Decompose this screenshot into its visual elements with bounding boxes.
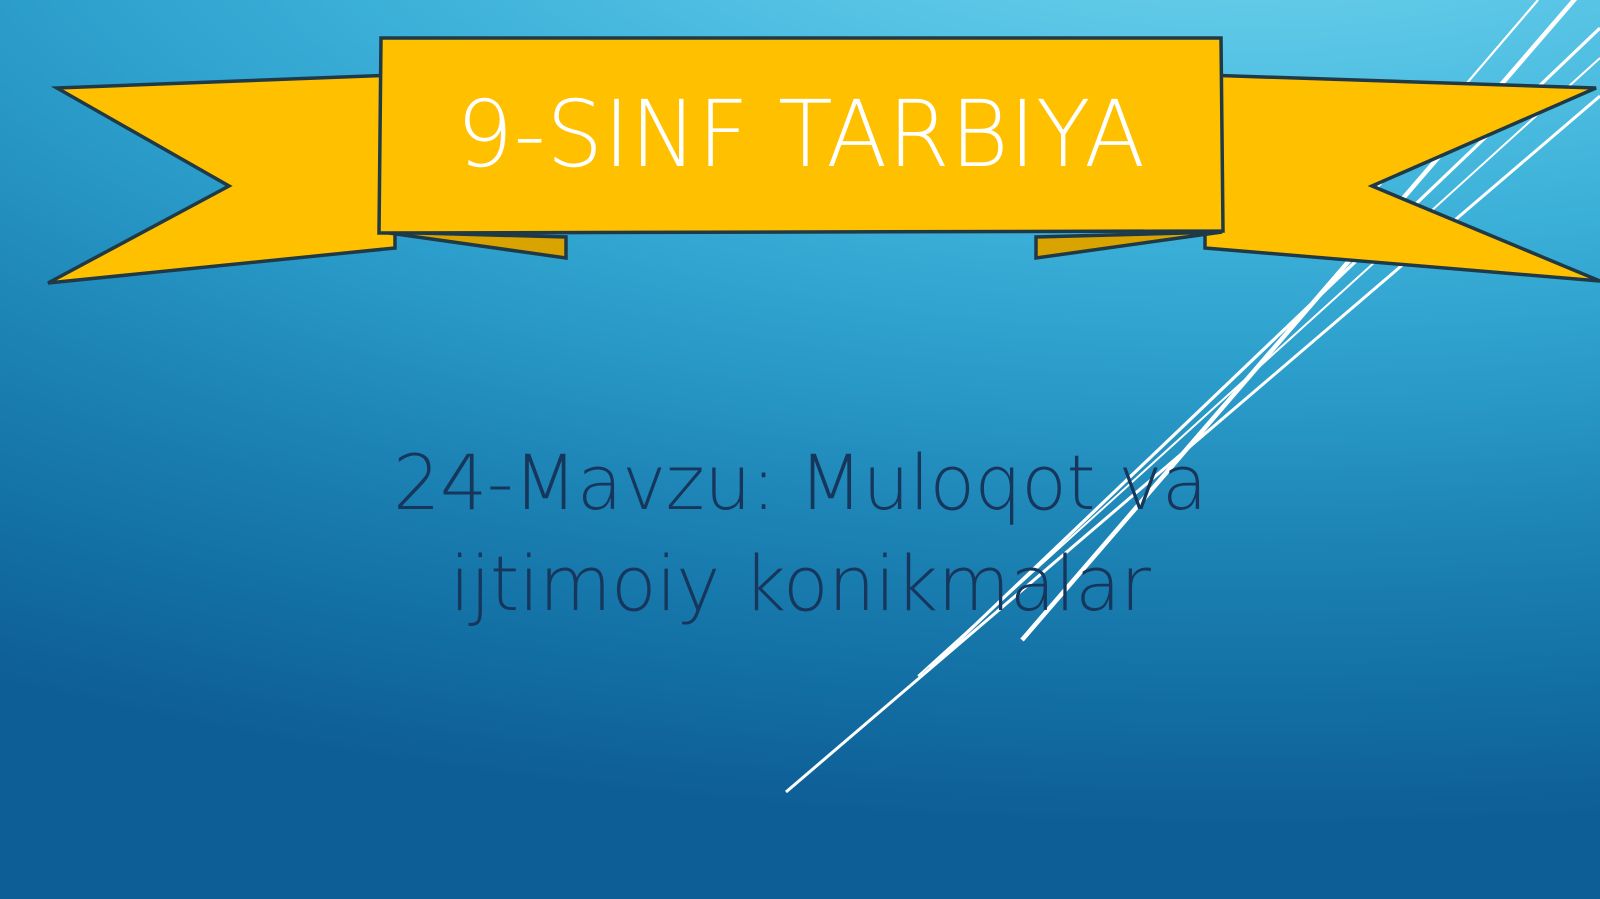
slide-subtitle: 24-Mavzu: Muloqot va ijtimoiy konikmalar <box>192 432 1407 634</box>
subtitle-line-2: ijtimoiy konikmalar <box>192 533 1407 634</box>
subtitle-line-1: 24-Mavzu: Muloqot va <box>192 432 1407 533</box>
banner-title-text: 9-SINF TARBIYA <box>393 37 1210 232</box>
slide-canvas: 9-SINF TARBIYA 24-Mavzu: Muloqot va ijti… <box>0 0 1600 899</box>
